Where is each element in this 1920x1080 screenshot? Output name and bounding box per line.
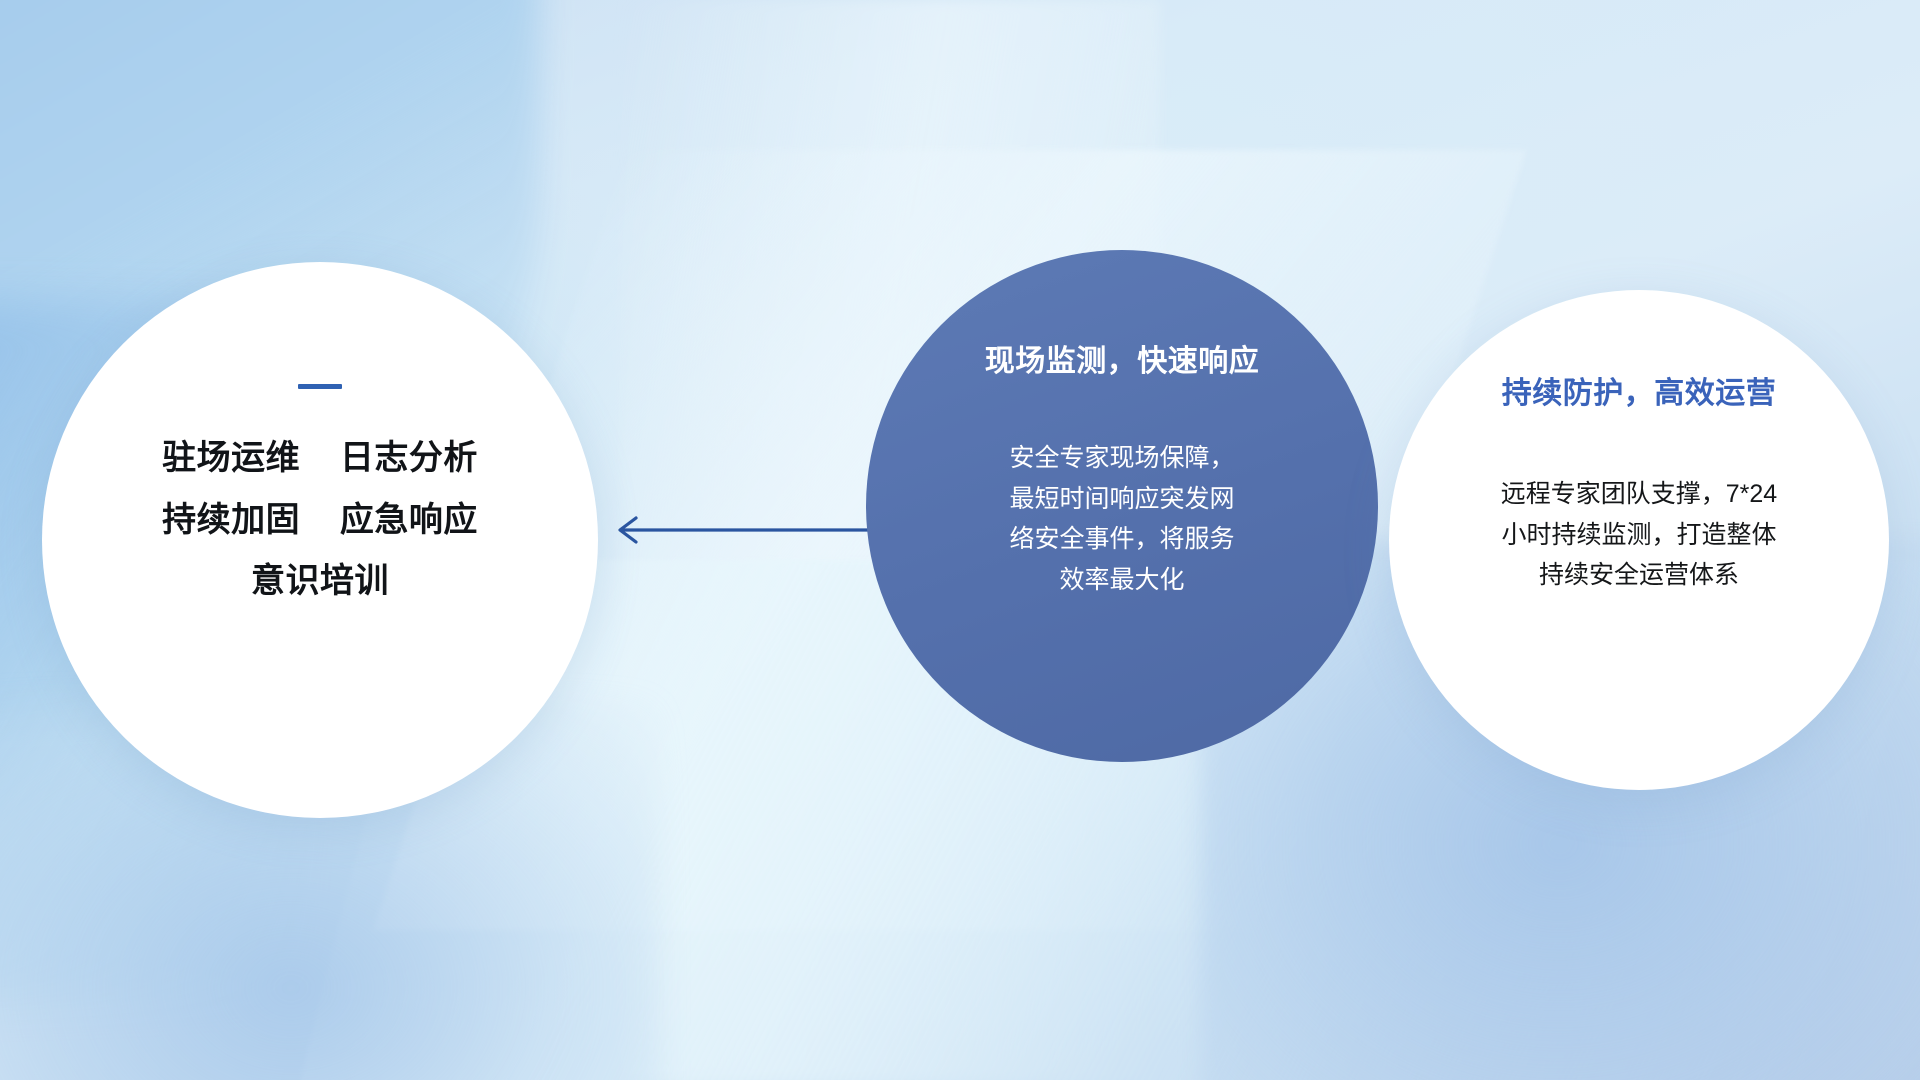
horizontal-dash-icon xyxy=(298,384,342,389)
left-service-list: 驻场运维 日志分析 持续加固 应急响应 意识培训 xyxy=(162,441,478,600)
body-line: 小时持续监测，打造整体 xyxy=(1429,515,1849,556)
body-line: 持续安全运营体系 xyxy=(1429,555,1849,596)
body-line: 安全专家现场保障， xyxy=(962,438,1282,479)
right-circle-title: 持续防护，高效运营 xyxy=(1502,368,1777,412)
middle-circle-title: 现场监测，快速响应 xyxy=(985,336,1260,380)
body-line: 最短时间响应突发网 xyxy=(962,479,1282,520)
right-circle-body: 远程专家团队支撑，7*24 小时持续监测，打造整体 持续安全运营体系 xyxy=(1429,474,1849,596)
slide-canvas: 驻场运维 日志分析 持续加固 应急响应 意识培训 现场监测，快速响应 安全专家现… xyxy=(0,0,1920,1080)
body-line: 络安全事件，将服务 xyxy=(962,519,1282,560)
body-line: 效率最大化 xyxy=(962,560,1282,601)
list-item: 驻场运维 日志分析 xyxy=(162,441,478,477)
list-item: 持续加固 应急响应 xyxy=(162,503,478,539)
left-service-circle[interactable]: 驻场运维 日志分析 持续加固 应急响应 意识培训 xyxy=(42,262,598,818)
middle-feature-circle[interactable]: 现场监测，快速响应 安全专家现场保障， 最短时间响应突发网 络安全事件，将服务 … xyxy=(866,250,1378,762)
list-item: 意识培训 xyxy=(162,564,478,600)
right-feature-circle[interactable]: 持续防护，高效运营 远程专家团队支撑，7*24 小时持续监测，打造整体 持续安全… xyxy=(1389,290,1889,790)
body-line: 远程专家团队支撑，7*24 xyxy=(1429,474,1849,515)
middle-circle-body: 安全专家现场保障， 最短时间响应突发网 络安全事件，将服务 效率最大化 xyxy=(962,438,1282,600)
